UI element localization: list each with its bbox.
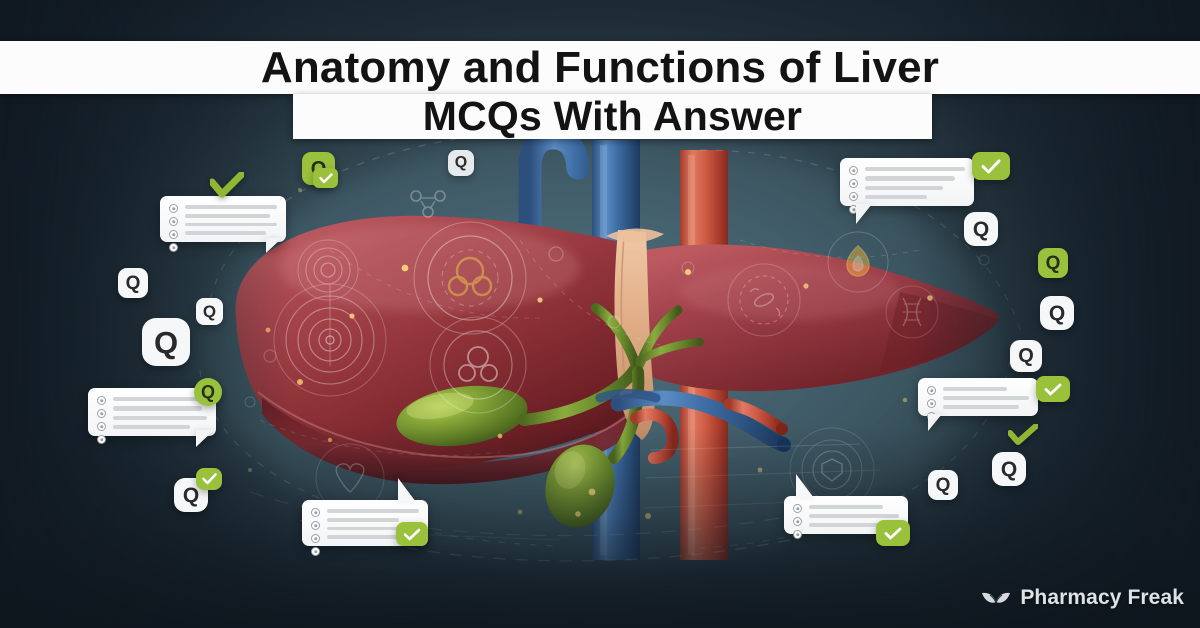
mcq-card-bottom-left-tail	[398, 478, 416, 502]
mcq-line	[113, 425, 190, 429]
title-band-secondary: MCQs With Answer	[293, 94, 932, 139]
mcq-options[interactable]	[311, 507, 320, 539]
mcq-card-mid-right-tail	[928, 414, 942, 431]
q-badge-6[interactable]: Q	[142, 318, 190, 366]
mcq-text-lines	[113, 395, 207, 429]
q-badge-9[interactable]: Q	[1038, 248, 1068, 278]
q-badge-13[interactable]: Q	[928, 470, 958, 500]
check-icon	[210, 172, 244, 198]
mcq-option-radio[interactable]	[793, 530, 802, 539]
mcq-line	[327, 518, 399, 522]
mcq-option-radio[interactable]	[927, 386, 936, 395]
check-icon	[202, 473, 217, 485]
check-top-right	[972, 152, 1010, 180]
brand-watermark: Pharmacy Freak	[981, 586, 1184, 610]
q-badge-10[interactable]: Q	[1040, 296, 1074, 330]
mcq-options[interactable]	[97, 395, 106, 429]
q-badge-label: Q	[1018, 346, 1034, 366]
q-badge-label: Q	[154, 327, 178, 358]
q-badge-5[interactable]: Q	[194, 378, 222, 406]
q-badge-label: Q	[973, 219, 989, 240]
q-badge-label: Q	[1001, 459, 1017, 480]
mcq-option-radio[interactable]	[311, 521, 320, 530]
mcq-option-radio[interactable]	[97, 435, 106, 444]
mcq-line	[865, 195, 927, 199]
mcq-line	[809, 514, 899, 518]
q-badge-label: Q	[203, 303, 216, 320]
q-badge-label: Q	[126, 274, 141, 293]
q-badge-label: Q	[1046, 254, 1061, 273]
mcq-option-radio[interactable]	[793, 504, 802, 513]
mcq-option-radio[interactable]	[849, 166, 858, 175]
check-top-left-chip	[313, 168, 338, 188]
mcq-card-mid-left-tail	[196, 430, 214, 447]
mcq-text-lines	[943, 385, 1029, 409]
mcq-line	[943, 405, 1019, 409]
q-badge-1[interactable]: Q	[448, 150, 474, 176]
mcq-text-lines	[185, 203, 277, 235]
mcq-options[interactable]	[169, 203, 178, 235]
q-badge-8[interactable]: Q	[964, 212, 998, 246]
mcq-line	[809, 505, 883, 509]
check-left-q	[196, 468, 222, 490]
q-badge-label: Q	[201, 383, 215, 401]
check-icon	[319, 173, 333, 184]
mcq-option-radio[interactable]	[169, 230, 178, 239]
mcq-line	[185, 223, 277, 227]
q-badge-2[interactable]: Q	[118, 268, 148, 298]
q-badge-label: Q	[936, 476, 951, 495]
check-right-plain	[1008, 424, 1038, 446]
mcq-line	[865, 176, 955, 180]
mcq-card-bottom-right-tail	[796, 474, 814, 498]
mcq-line	[943, 387, 1007, 391]
mcq-text-lines	[865, 165, 965, 199]
page-title-line-2: MCQs With Answer	[423, 96, 802, 137]
mcq-option-radio[interactable]	[849, 192, 858, 201]
mcq-line	[865, 167, 965, 171]
leaf-wings-icon	[981, 587, 1011, 609]
mcq-line	[113, 397, 207, 401]
check-mid-right	[1036, 376, 1070, 402]
mcq-line	[185, 214, 270, 218]
mcq-option-radio[interactable]	[793, 517, 802, 526]
q-badge-11[interactable]: Q	[1010, 340, 1042, 372]
mcq-options[interactable]	[849, 165, 858, 199]
check-top-left	[210, 172, 244, 198]
q-badge-3[interactable]: Q	[196, 298, 223, 325]
mcq-option-radio[interactable]	[311, 547, 320, 556]
mcq-options[interactable]	[927, 385, 936, 409]
mcq-line	[113, 406, 202, 410]
mcq-card-top-left-tail	[266, 238, 282, 253]
mcq-card-top-right[interactable]	[840, 158, 974, 206]
mcq-option-radio[interactable]	[169, 204, 178, 213]
mcq-line	[327, 509, 419, 513]
mcq-option-radio[interactable]	[849, 179, 858, 188]
brand-name: Pharmacy Freak	[1020, 586, 1184, 610]
mcq-option-radio[interactable]	[169, 217, 178, 226]
mcq-line	[943, 396, 1029, 400]
check-icon	[1044, 383, 1062, 396]
check-icon	[403, 528, 421, 541]
mcq-options[interactable]	[793, 503, 802, 527]
mcq-option-radio[interactable]	[927, 399, 936, 408]
check-icon	[981, 159, 1001, 174]
q-badge-label: Q	[455, 155, 467, 171]
mcq-option-radio[interactable]	[311, 508, 320, 517]
check-icon	[1008, 424, 1038, 446]
mcq-line	[865, 186, 943, 190]
mcq-card-mid-right[interactable]	[918, 378, 1038, 416]
title-band-primary: Anatomy and Functions of Liver	[0, 41, 1200, 94]
check-bottom-right	[876, 520, 910, 546]
mcq-option-radio[interactable]	[97, 396, 106, 405]
mcq-card-top-left[interactable]	[160, 196, 286, 242]
mcq-line	[185, 231, 266, 235]
poster-canvas: Q Q Q Q Q Q Q	[0, 0, 1200, 628]
page-title-line-1: Anatomy and Functions of Liver	[261, 46, 939, 90]
mcq-option-radio[interactable]	[169, 243, 178, 252]
mcq-line	[185, 205, 277, 209]
mcq-line	[113, 416, 207, 420]
q-badge-label: Q	[183, 485, 199, 506]
mcq-option-radio[interactable]	[97, 409, 106, 418]
mcq-option-radio[interactable]	[311, 534, 320, 543]
mcq-card-top-right-tail	[856, 204, 872, 224]
q-badge-12[interactable]: Q	[992, 452, 1026, 486]
q-badge-label: Q	[1049, 303, 1065, 324]
check-bottom-left	[396, 522, 428, 546]
check-icon	[884, 527, 902, 540]
mcq-option-radio[interactable]	[97, 422, 106, 431]
